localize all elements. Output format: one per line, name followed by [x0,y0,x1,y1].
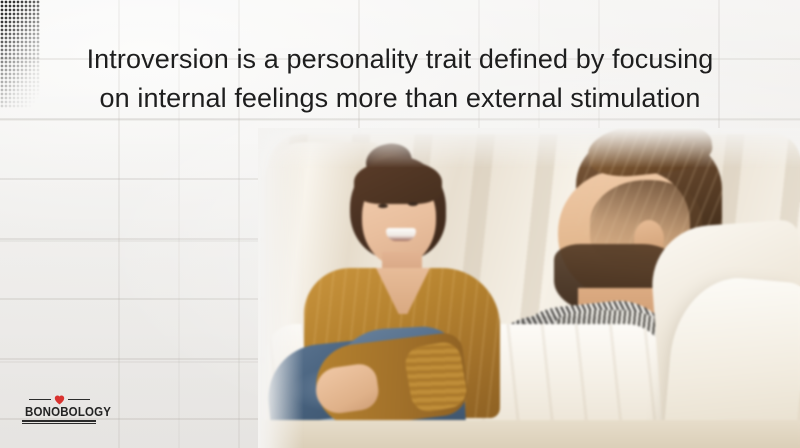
page-title: Introversion is a personality trait defi… [0,40,800,118]
logo-wordmark: BONOBOLOGY [25,405,93,419]
logo-rule-left [29,399,51,401]
logo-underline-thin [22,423,96,424]
logo-heart-row [22,394,96,405]
sofa-front-rail [258,420,800,448]
logo-rule-right [68,399,90,401]
logo-underline-thick [22,420,96,422]
heart-icon [54,395,65,405]
bonobology-logo[interactable]: BONOBOLOGY [22,394,96,424]
couple-photo [258,128,800,448]
article-banner: Introversion is a personality trait defi… [0,0,800,448]
woman-left-eye [378,204,388,208]
woman-right-eye [408,202,418,206]
woman-hair-front [354,160,442,204]
woman-smile [386,228,416,241]
